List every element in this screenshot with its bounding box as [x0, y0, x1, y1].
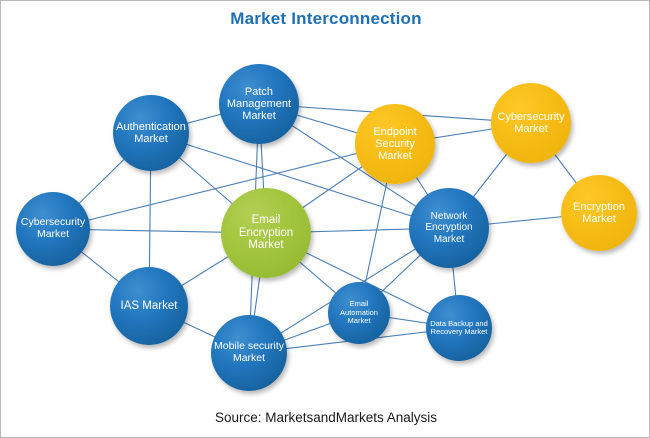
- node-authentication[interactable]: Authentication Market: [113, 95, 189, 171]
- node-label-cybersecurity-blue: Cybersecurity Market: [18, 217, 88, 241]
- node-encryption[interactable]: Encryption Market: [561, 175, 637, 251]
- node-label-mobile-security: Mobile security Market: [213, 341, 285, 365]
- node-label-ias: IAS Market: [112, 300, 186, 313]
- node-data-backup-recovery[interactable]: Data Backup and Recovery Market: [426, 295, 492, 361]
- node-network-encryption[interactable]: Network Encryption Market: [409, 188, 489, 268]
- node-email-automation[interactable]: Email Automation Market: [328, 282, 390, 344]
- node-label-encryption: Encryption Market: [563, 201, 635, 226]
- diagram-canvas: Market Interconnection Patch Management …: [0, 0, 650, 438]
- node-label-data-backup-recovery: Data Backup and Recovery Market: [428, 320, 490, 337]
- node-label-cybersecurity-yellow: Cybersecurity Market: [493, 111, 569, 136]
- node-ias[interactable]: IAS Market: [110, 267, 188, 345]
- node-label-email-encryption: Email Encryption Market: [223, 214, 309, 253]
- node-label-authentication: Authentication Market: [115, 121, 187, 146]
- node-label-patch-management: Patch Management Market: [221, 86, 297, 123]
- node-cybersecurity-yellow[interactable]: Cybersecurity Market: [491, 83, 571, 163]
- node-cybersecurity-blue[interactable]: Cybersecurity Market: [16, 192, 90, 266]
- node-label-endpoint-security: Endpoint Security Market: [357, 126, 433, 163]
- node-label-network-encryption: Network Encryption Market: [411, 211, 487, 245]
- source-caption: Source: MarketsandMarkets Analysis: [1, 410, 650, 425]
- node-label-email-automation: Email Automation Market: [330, 300, 388, 325]
- edge-layer: [1, 1, 650, 438]
- node-patch-management[interactable]: Patch Management Market: [219, 64, 299, 144]
- node-endpoint-security[interactable]: Endpoint Security Market: [355, 104, 435, 184]
- node-mobile-security[interactable]: Mobile security Market: [211, 315, 287, 391]
- node-email-encryption[interactable]: Email Encryption Market: [221, 188, 311, 278]
